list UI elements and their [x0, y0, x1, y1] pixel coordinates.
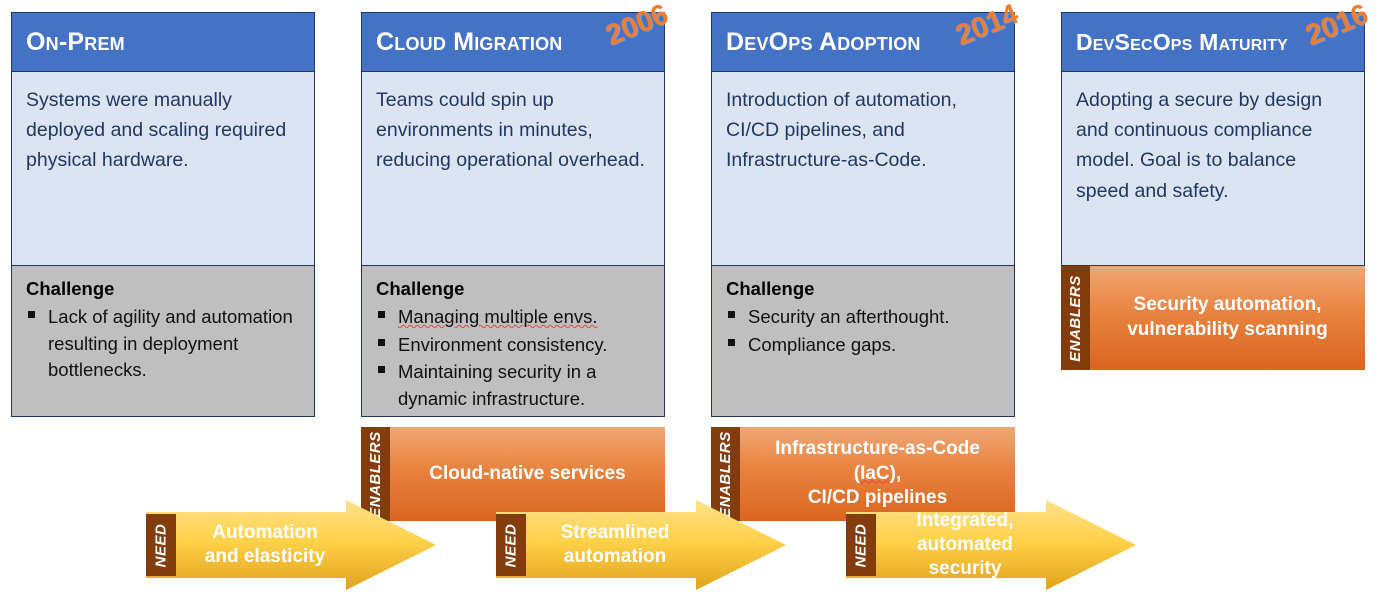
enablers-tab-label: ENABLERS: [1067, 275, 1084, 362]
need-tab: NEED: [146, 514, 176, 576]
need-label: Streamlinedautomation: [530, 514, 700, 576]
need-arrow-1[interactable]: NEED Automationand elasticity: [146, 500, 436, 590]
enablers-tab: ENABLERS: [1061, 266, 1090, 370]
list-item: Managing multiple envs.: [376, 304, 652, 331]
bullet-square-icon: [378, 311, 385, 318]
need-arrow-3[interactable]: NEED Integrated,automated security: [846, 500, 1136, 590]
phase-description: Teams could spin up environments in minu…: [361, 72, 665, 266]
need-arrow-2[interactable]: NEED Streamlinedautomation: [496, 500, 786, 590]
challenge-list: Security an afterthought. Compliance gap…: [726, 304, 1002, 359]
phase-header-devops-adoption: DevOps Adoption 2014: [711, 12, 1015, 72]
phase-description: Introduction of automation, CI/CD pipeli…: [711, 72, 1015, 266]
challenge-text: Managing multiple envs.: [398, 306, 598, 327]
phase-description: Adopting a secure by design and continuo…: [1061, 72, 1365, 266]
phase-description: Systems were manually deployed and scali…: [11, 72, 315, 266]
phase-year-badge: 2014: [952, 0, 1024, 53]
challenge-heading: Challenge: [26, 276, 302, 303]
bullet-square-icon: [728, 311, 735, 318]
phase-challenge-block: Challenge Lack of agility and automation…: [11, 266, 315, 417]
need-line-2: automated security: [917, 534, 1013, 579]
phase-year-badge: 2016: [1302, 0, 1374, 53]
list-item: Environment consistency.: [376, 332, 652, 359]
need-line-2: and elasticity: [205, 546, 325, 567]
need-line-1: Automation: [212, 522, 318, 543]
phase-card-devsecops-maturity[interactable]: DevSecOps Maturity 2016 Adopting a secur…: [1061, 12, 1365, 266]
need-tab-label: NEED: [503, 523, 520, 567]
challenge-text-misspelled: Managing multiple envs.: [398, 306, 598, 327]
enabler-text-line: Infrastructure-as-Code (IaC),: [775, 438, 980, 484]
list-item: Compliance gaps.: [726, 332, 1002, 359]
phase-challenge-block: Challenge Managing multiple envs. Enviro…: [361, 266, 665, 417]
phase-title: DevOps Adoption: [726, 30, 921, 55]
phase-title: On-Prem: [26, 30, 125, 55]
challenge-heading: Challenge: [376, 276, 652, 303]
bullet-square-icon: [378, 366, 385, 373]
challenge-text: Compliance gaps.: [748, 334, 896, 355]
challenge-heading: Challenge: [726, 276, 1002, 303]
phase-title: Cloud Migration: [376, 30, 562, 55]
enabler-text-misspelled: IaC: [860, 463, 890, 484]
list-item: Lack of agility and automation resulting…: [26, 304, 302, 384]
phase-card-on-prem[interactable]: On-Prem Systems were manually deployed a…: [11, 12, 315, 417]
need-label: Integrated,automated security: [880, 514, 1050, 576]
bullet-square-icon: [378, 339, 385, 346]
phase-title: DevSecOps Maturity: [1076, 31, 1288, 54]
phase-card-cloud-migration[interactable]: Cloud Migration 2006 Teams could spin up…: [361, 12, 665, 417]
bullet-square-icon: [728, 339, 735, 346]
phase-card-devops-adoption[interactable]: DevOps Adoption 2014 Introduction of aut…: [711, 12, 1015, 417]
need-tab: NEED: [846, 514, 876, 576]
need-line-2: automation: [564, 546, 666, 567]
challenge-text: Security an afterthought.: [748, 306, 950, 327]
phase-challenge-block: Challenge Security an afterthought. Comp…: [711, 266, 1015, 417]
enabler-text: Security automation, vulnerability scann…: [1090, 266, 1365, 370]
need-line-1: Integrated,: [916, 510, 1013, 531]
bullet-square-icon: [28, 311, 35, 318]
challenge-text: Maintaining security in a dynamic infras…: [398, 361, 596, 409]
challenge-list: Lack of agility and automation resulting…: [26, 304, 302, 384]
enabler-band-devsecops-maturity[interactable]: ENABLERS Security automation, vulnerabil…: [1061, 266, 1365, 370]
challenge-text: Environment consistency.: [398, 334, 607, 355]
phase-year-badge: 2006: [602, 0, 674, 53]
need-tab-label: NEED: [153, 523, 170, 567]
challenge-text: Lack of agility and automation resulting…: [48, 306, 293, 381]
need-line-1: Streamlined: [561, 522, 670, 543]
challenge-list: Managing multiple envs. Environment cons…: [376, 304, 652, 413]
diagram-canvas: On-Prem Systems were manually deployed a…: [0, 0, 1389, 613]
phase-header-devsecops-maturity: DevSecOps Maturity 2016: [1061, 12, 1365, 72]
list-item: Security an afterthought.: [726, 304, 1002, 331]
phase-header-cloud-migration: Cloud Migration 2006: [361, 12, 665, 72]
need-tab-label: NEED: [853, 523, 870, 567]
phase-header-on-prem: On-Prem: [11, 12, 315, 72]
need-tab: NEED: [496, 514, 526, 576]
list-item: Maintaining security in a dynamic infras…: [376, 359, 652, 413]
need-label: Automationand elasticity: [180, 514, 350, 576]
